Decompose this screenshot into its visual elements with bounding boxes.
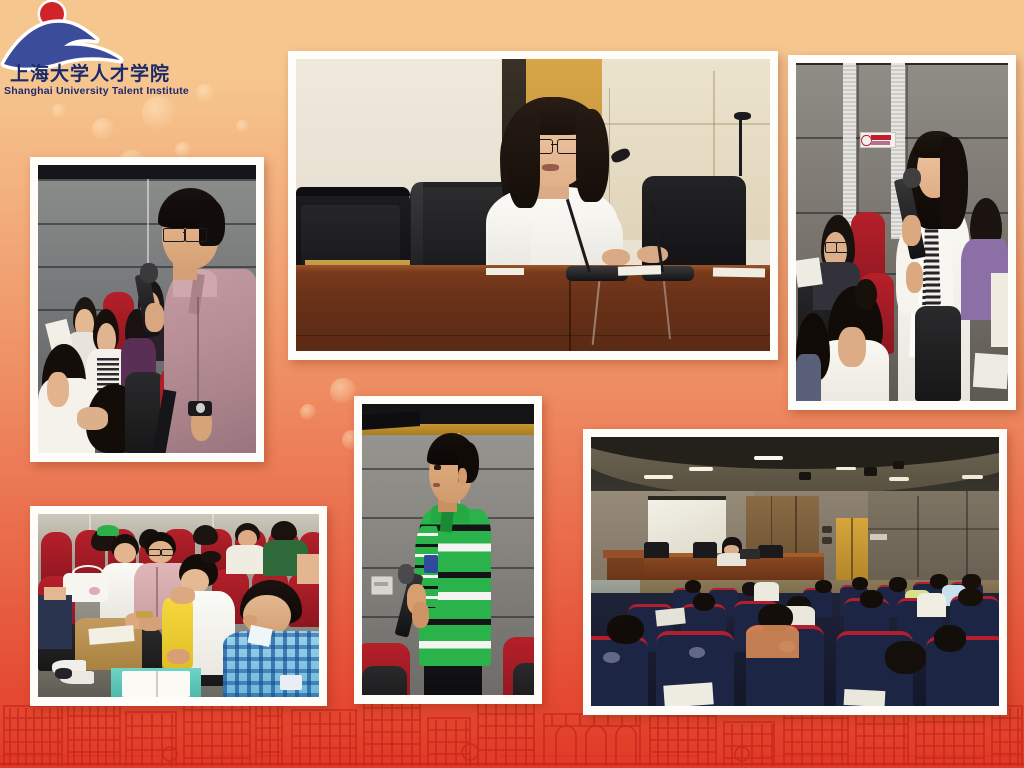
- institute-logo: 上海大学人才学院 Shanghai University Talent Inst…: [0, 0, 208, 102]
- photo-seated-audience[interactable]: [30, 506, 327, 706]
- plaid-shirt: [223, 631, 319, 697]
- ceiling-light: [689, 467, 713, 471]
- scene-seated-audience: [38, 514, 319, 697]
- ceiling-light: [962, 475, 982, 479]
- photo-woman-microphone[interactable]: [788, 55, 1016, 410]
- photo-image: [591, 437, 999, 706]
- bokeh-light-6: [236, 120, 249, 133]
- bokeh-light-8: [330, 378, 356, 404]
- wristwatch: [136, 611, 153, 618]
- bokeh-light-9: [300, 404, 316, 420]
- conference-desk: [296, 272, 770, 351]
- photo-speaker-podium[interactable]: [288, 51, 778, 360]
- scene-woman-mic: [796, 63, 1008, 401]
- photo-image: [38, 514, 319, 697]
- scene-podium: [296, 59, 770, 351]
- ceiling-light: [644, 475, 673, 479]
- glasses: [148, 549, 161, 556]
- ceiling-light: [889, 477, 909, 481]
- ceiling-light: [754, 456, 783, 460]
- svg-text:Shanghai University Talent Ins: Shanghai University Talent Institute: [4, 85, 189, 97]
- glasses: [163, 228, 185, 242]
- photo-image: [296, 59, 770, 351]
- scene-question: [38, 165, 256, 453]
- photo-image: [38, 165, 256, 453]
- photo-student-question[interactable]: [30, 157, 264, 462]
- green-hair-bow: [97, 525, 119, 536]
- chest-badge: [424, 555, 438, 572]
- bokeh-light-7: [52, 104, 66, 118]
- bokeh-light-5: [175, 142, 191, 158]
- ceiling-light: [836, 467, 856, 471]
- collage-canvas: 上海大学人才学院 Shanghai University Talent Inst…: [0, 0, 1024, 768]
- scene-lecture-hall: [591, 437, 999, 706]
- photo-lecture-hall[interactable]: [583, 429, 1007, 715]
- glasses: [523, 139, 553, 154]
- svg-text:上海大学人才学院: 上海大学人才学院: [10, 62, 170, 85]
- photo-image: [362, 404, 534, 695]
- photo-image: [796, 63, 1008, 401]
- bokeh-light-2: [92, 118, 114, 140]
- scene-green-polo: [362, 404, 534, 695]
- photo-green-polo-speaker[interactable]: [354, 396, 542, 704]
